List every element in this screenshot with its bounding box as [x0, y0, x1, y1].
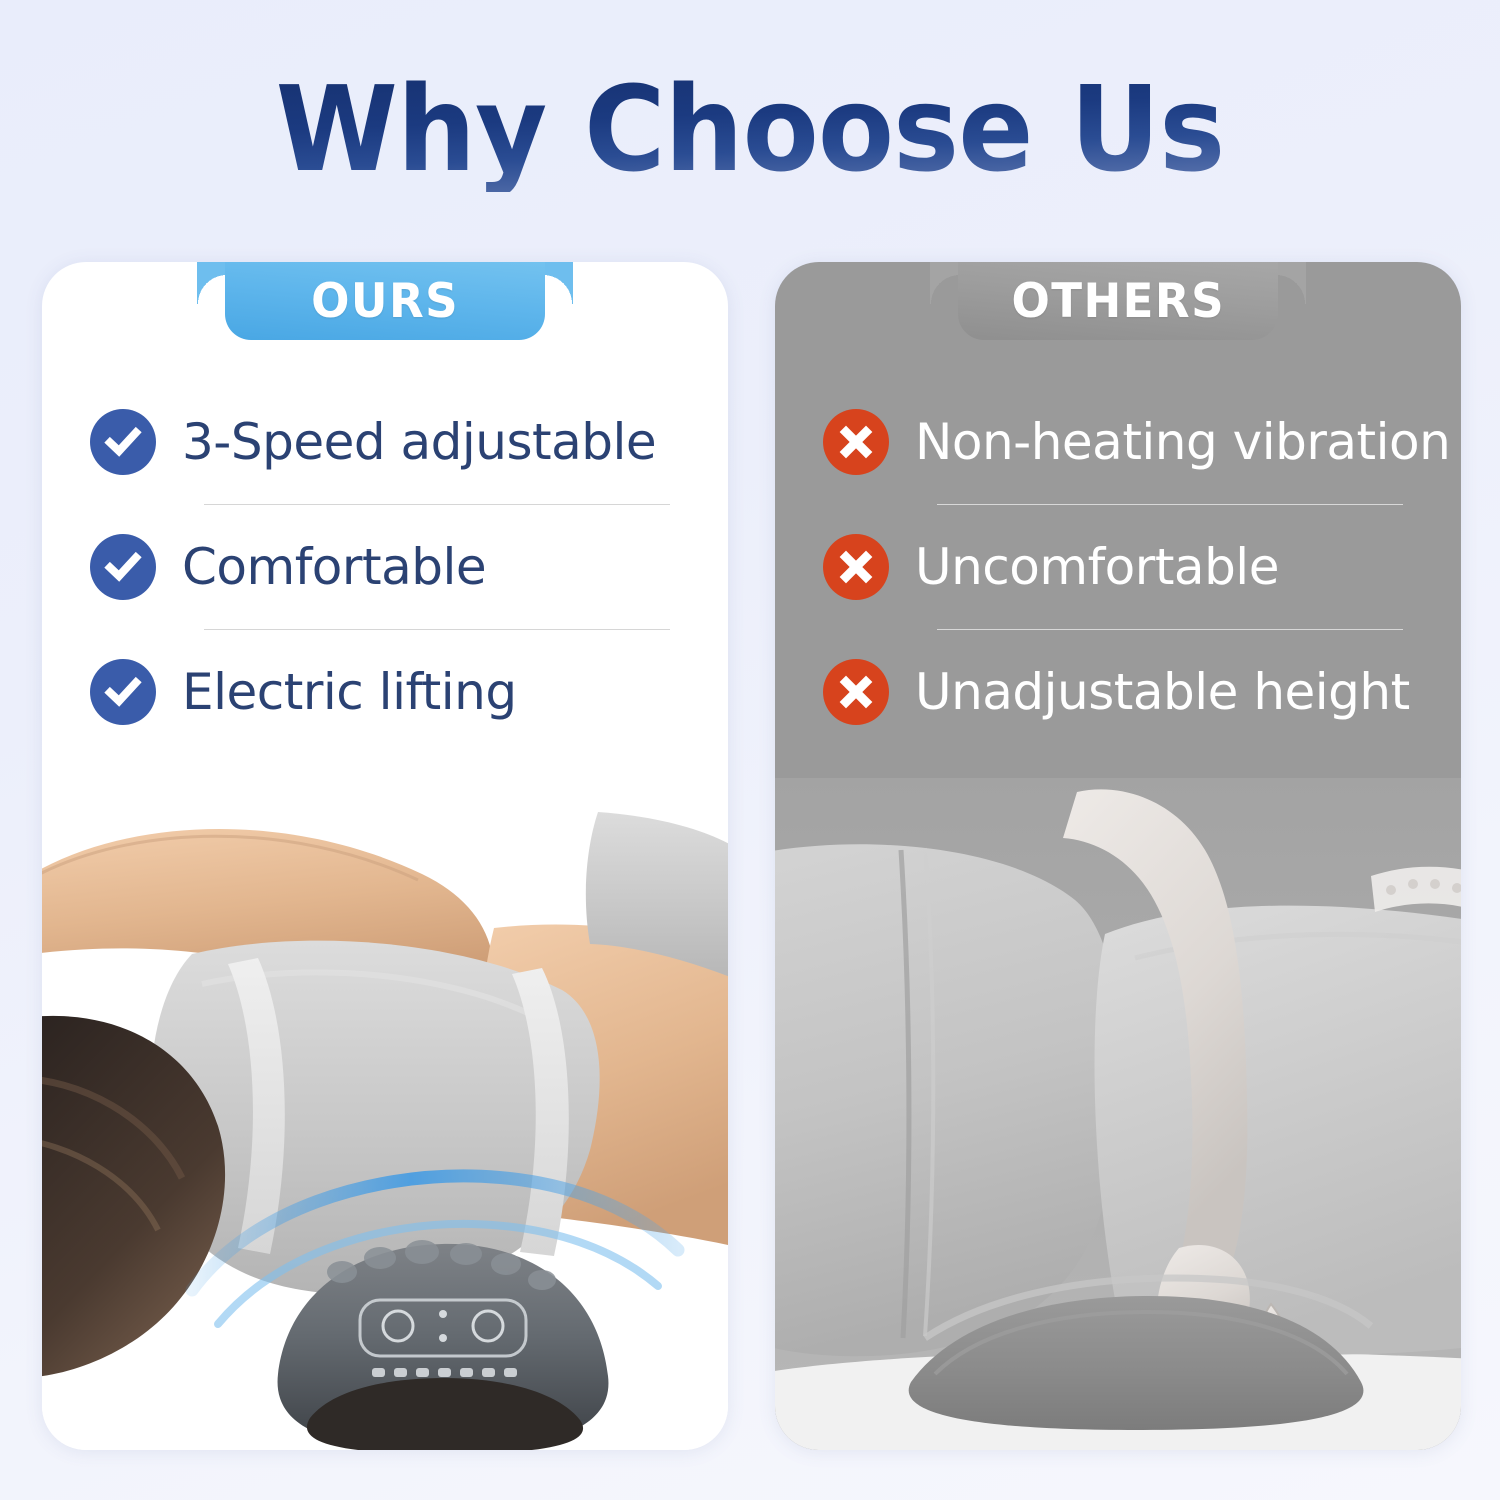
x-circle-icon	[823, 534, 889, 600]
ours-feature-list: 3-Speed adjustable Comfortable E	[42, 380, 728, 754]
list-item: Non-heating vibration	[809, 380, 1427, 504]
tab-notch-right-icon	[543, 262, 573, 304]
list-item: Unadjustable height	[809, 630, 1427, 754]
others-photo	[775, 778, 1461, 1450]
others-card: OTHERS Non-heating vibration	[775, 262, 1461, 1450]
ours-tab: OURS	[197, 262, 573, 346]
x-circle-icon	[823, 659, 889, 725]
list-item: Electric lifting	[76, 630, 694, 754]
ours-photo	[42, 778, 728, 1450]
others-tab-banner: OTHERS	[958, 262, 1278, 340]
tab-notch-left-icon	[930, 262, 960, 304]
others-tab: OTHERS	[930, 262, 1306, 346]
list-item: Comfortable	[76, 505, 694, 629]
list-item-label: Uncomfortable	[915, 541, 1279, 594]
list-item-label: Unadjustable height	[915, 666, 1410, 719]
list-item-label: Non-heating vibration	[915, 416, 1450, 469]
ours-tab-label: OURS	[311, 274, 459, 329]
list-item: 3-Speed adjustable	[76, 380, 694, 504]
tab-notch-right-icon	[1276, 262, 1306, 304]
others-tab-label: OTHERS	[1011, 274, 1225, 329]
list-item-label: Comfortable	[182, 541, 486, 594]
check-circle-icon	[90, 659, 156, 725]
list-item-label: Electric lifting	[182, 666, 517, 719]
tab-notch-left-icon	[197, 262, 227, 304]
page-title: Why Choose Us	[45, 68, 1455, 192]
ours-tab-banner: OURS	[225, 262, 545, 340]
comparison-section: OURS 3-Speed adjustable Comfo	[0, 262, 1500, 1452]
list-item-label: 3-Speed adjustable	[182, 416, 656, 469]
check-circle-icon	[90, 534, 156, 600]
others-feature-list: Non-heating vibration Uncomfortable	[775, 380, 1461, 754]
x-circle-icon	[823, 409, 889, 475]
ours-card: OURS 3-Speed adjustable Comfo	[42, 262, 728, 1450]
check-circle-icon	[90, 409, 156, 475]
list-item: Uncomfortable	[809, 505, 1427, 629]
